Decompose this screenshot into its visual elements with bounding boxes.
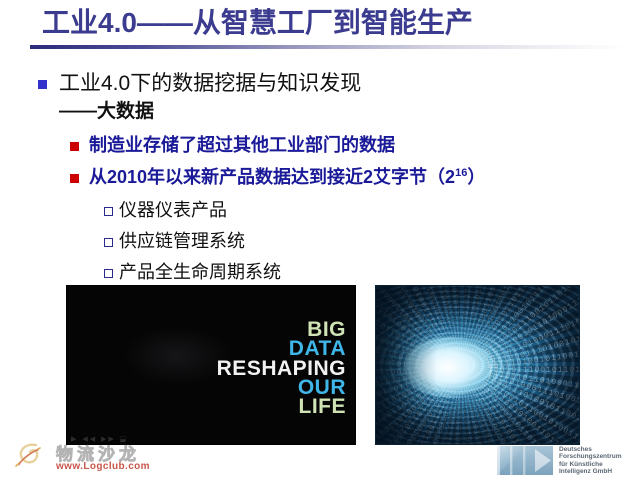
dfki-mark-icon	[497, 446, 553, 475]
dfki-line-3: für Künstliche	[559, 461, 621, 468]
watermark: 物流沙龙 www.Logclub.com	[14, 440, 194, 478]
dfki-line-4: Intelligenz GmbH	[559, 468, 621, 475]
filled-square-red-icon	[70, 142, 79, 151]
binary-tunnel-image: 1001011100101101000111111001011010001110…	[375, 285, 580, 445]
big-data-text-stack: BIG DATA RESHAPING OUR LIFE	[217, 320, 346, 417]
bullet-level3-label-1: 仪器仪表产品	[119, 198, 227, 223]
big-data-glow	[122, 326, 232, 386]
bullet-level2: 制造业存储了超过其他工业部门的数据 从2010年以来新产品数据达到接近2艾字节（…	[70, 133, 630, 197]
big-data-image: BIG DATA RESHAPING OUR LIFE ▶ ◀◀ ▶▶ ⬓	[66, 285, 356, 445]
bullet-level1-row: 工业4.0下的数据挖据与知识发现	[38, 70, 598, 98]
dfki-logo: Deutsches Forschungszentrum für Künstlic…	[497, 446, 633, 476]
bullet-level2-text-before: 从2010年以来新产品数据达到接近2艾字节（2	[89, 167, 455, 187]
watermark-url: www.Logclub.com	[56, 461, 150, 472]
bullet-level3-label-2: 供应链管理系统	[119, 229, 245, 254]
filled-square-blue-icon	[38, 80, 47, 89]
bullet-level2-row: 制造业存储了超过其他工业部门的数据	[70, 133, 630, 158]
hollow-square-icon	[104, 269, 113, 278]
bullet-level2-row: 从2010年以来新产品数据达到接近2艾字节（216）	[70, 165, 630, 190]
logclub-swirl-icon	[14, 442, 48, 468]
hollow-square-icon	[104, 238, 113, 247]
bullet-level2-text-after: ）	[467, 167, 485, 187]
bullet-level3-label-3: 产品全生命周期系统	[119, 260, 281, 285]
title-divider	[30, 45, 626, 49]
dfki-line-1: Deutsches	[559, 446, 621, 453]
bullet-level2-label-2: 从2010年以来新产品数据达到接近2艾字节（216）	[89, 165, 485, 190]
bullet-level2-label-1: 制造业存储了超过其他工业部门的数据	[89, 133, 395, 158]
bullet-level1-subtitle: ——大数据	[59, 98, 598, 125]
big-data-line-life: LIFE	[217, 397, 346, 416]
slide-canvas: 工业4.0——从智慧工厂到智能生产 工业4.0下的数据挖据与知识发现 ——大数据…	[0, 0, 640, 480]
tunnel-vignette	[376, 286, 579, 444]
dfki-line-2: Forschungszentrum	[559, 453, 621, 460]
dfki-wordmark-text: Deutsches Forschungszentrum für Künstlic…	[559, 446, 621, 475]
bullet-level3-row: 仪器仪表产品	[104, 198, 504, 223]
filled-square-red-icon	[70, 174, 79, 183]
page-title: 工业4.0——从智慧工厂到智能生产	[42, 6, 473, 40]
exponent-superscript: 16	[455, 167, 467, 179]
bullet-level3: 仪器仪表产品 供应链管理系统 产品全生命周期系统	[104, 198, 504, 291]
bullet-level3-row: 供应链管理系统	[104, 229, 504, 254]
hollow-square-icon	[104, 207, 113, 216]
bullet-level1: 工业4.0下的数据挖据与知识发现 ——大数据	[38, 70, 598, 125]
bullet-level1-label: 工业4.0下的数据挖据与知识发现	[59, 70, 361, 98]
big-data-line-data: DATA	[217, 339, 346, 358]
bullet-level3-row: 产品全生命周期系统	[104, 260, 504, 285]
